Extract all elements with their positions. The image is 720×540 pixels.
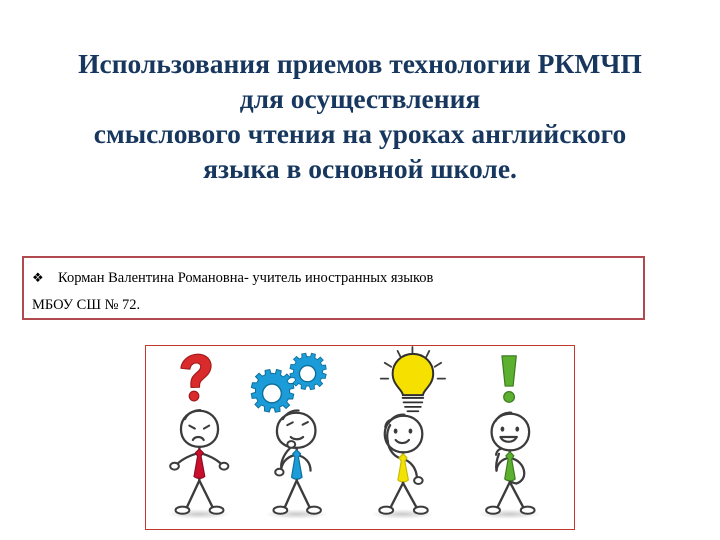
stick-figures-illustration xyxy=(146,346,574,529)
author-text-box: ❖Корман Валентина Романовна- учитель ино… xyxy=(22,256,645,320)
author-line-1: ❖Корман Валентина Романовна- учитель ино… xyxy=(32,264,635,292)
illustration-frame xyxy=(145,345,575,530)
page-title: Использования приемов технологии РКМЧП д… xyxy=(22,46,698,186)
author-name-label: Корман Валентина Романовна- учитель инос… xyxy=(58,270,433,286)
title-line-4: языка в основной школе. xyxy=(22,151,698,186)
diamond-bullet-icon: ❖ xyxy=(32,264,58,291)
title-line-2: для осуществления xyxy=(22,81,698,116)
author-line-2: МБОУ СШ № 72. xyxy=(32,292,635,319)
exclamation-mark-icon xyxy=(502,356,516,402)
title-line-3: смыслового чтения на уроках английского xyxy=(22,116,698,151)
slide-canvas: Использования приемов технологии РКМЧП д… xyxy=(0,0,720,540)
title-line-1: Использования приемов технологии РКМЧП xyxy=(22,46,698,81)
